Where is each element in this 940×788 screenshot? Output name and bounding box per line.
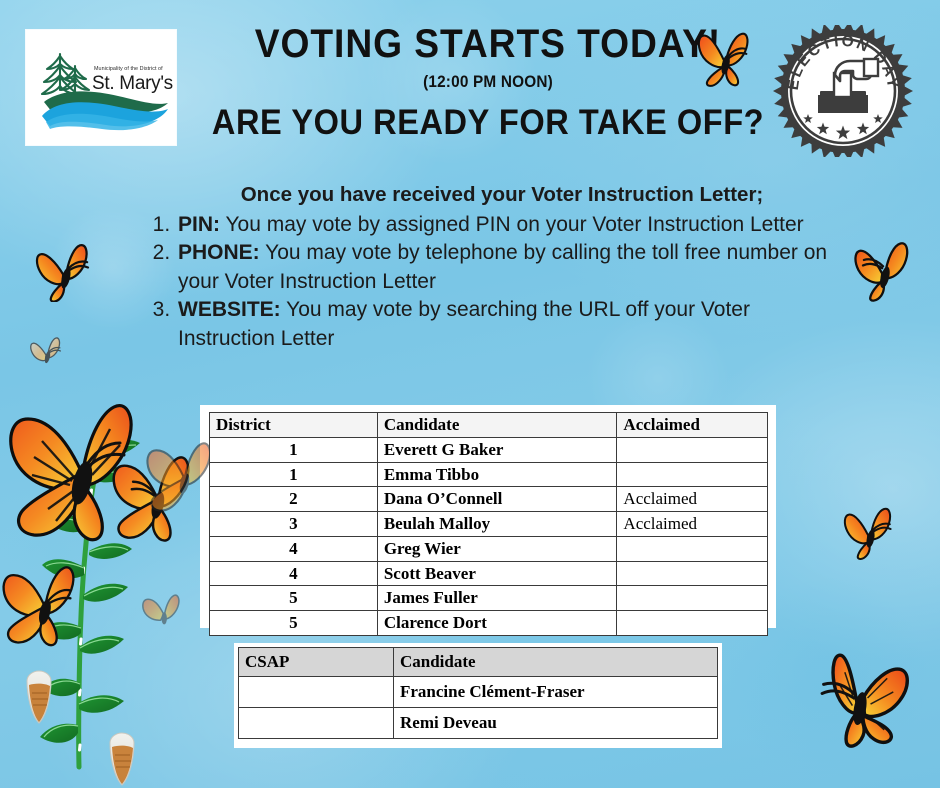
cell-candidate: Francine Clément-Fraser [394,677,718,708]
table-row: 5James Fuller [210,586,768,611]
column-header-csap: CSAP [239,648,394,677]
cell-candidate: Everett G Baker [377,437,617,462]
logo-caption-small: Municipality of the District of [94,66,163,72]
cell-district: 2 [210,487,378,512]
csap-table-header: CSAP Candidate [239,648,718,677]
cell-acclaimed [617,462,768,487]
instruction-lead: PHONE: [178,241,260,264]
csap-candidates-table-frame: CSAP Candidate Francine Clément-FraserRe… [234,643,722,748]
table-row: 4Scott Beaver [210,561,768,586]
instructions-block: Once you have received your Voter Instru… [148,182,848,353]
butterfly-icon [808,645,918,751]
monarch-faded-small [143,595,179,624]
plant-artwork [0,395,209,788]
milkweed-plant-illustration [0,395,209,788]
election-day-badge: ELECTION DAY [772,25,914,157]
csap-table-row: Remi Deveau [239,708,718,739]
election-day-seal-icon: ELECTION DAY [772,25,914,157]
instructions-list: PIN: You may vote by assigned PIN on you… [148,211,848,354]
cell-acclaimed [617,536,768,561]
instruction-lead: PIN: [178,213,220,236]
cell-candidate: Greg Wier [377,536,617,561]
table-row: 2Dana O’ConnellAcclaimed [210,487,768,512]
butterfly-right-lower [808,645,918,751]
column-header-candidate: Candidate [377,413,617,438]
page-title: VOTING STARTS TODAY! [209,24,767,64]
cell-candidate: Beulah Malloy [377,512,617,537]
butterfly-icon [28,335,66,371]
cell-acclaimed [617,611,768,636]
butterfly-icon [850,238,918,302]
cell-candidate: Remi Deveau [394,708,718,739]
cell-candidate: Clarence Dort [377,611,617,636]
municipality-logo: Municipality of the District of St. Mary… [26,30,176,145]
district-candidates-table-frame: District Candidate Acclaimed 1Everett G … [200,405,776,628]
poster-canvas: Municipality of the District of St. Mary… [0,0,940,788]
cell-district: 1 [210,462,378,487]
table-body: 1Everett G Baker1Emma Tibbo2Dana O’Conne… [210,437,768,635]
page-subtitle: (12:00 PM NOON) [209,74,767,91]
csap-table-row: Francine Clément-Fraser [239,677,718,708]
cell-acclaimed [617,561,768,586]
cell-acclaimed [617,586,768,611]
chrysalis-upper [110,733,134,785]
cell-district: 4 [210,536,378,561]
table-row: 1Emma Tibbo [210,462,768,487]
cell-candidate: Dana O’Connell [377,487,617,512]
table-header: District Candidate Acclaimed [210,413,768,438]
butterfly-icon [32,240,98,302]
column-header-acclaimed: Acclaimed [617,413,768,438]
csap-candidates-table: CSAP Candidate Francine Clément-FraserRe… [238,647,718,739]
chrysalis-lower [27,671,51,723]
table-row: 4Greg Wier [210,536,768,561]
district-candidates-table: District Candidate Acclaimed 1Everett G … [209,412,768,636]
cell-district: 5 [210,586,378,611]
instruction-text: You may vote by telephone by calling the… [178,241,827,293]
butterfly-right-upper [850,238,918,302]
cell-csap [239,677,394,708]
cell-district: 5 [210,611,378,636]
cell-acclaimed [617,437,768,462]
cell-district: 3 [210,512,378,537]
cell-acclaimed: Acclaimed [617,487,768,512]
csap-table-header-row: CSAP Candidate [239,648,718,677]
column-header-district: District [210,413,378,438]
cell-candidate: James Fuller [377,586,617,611]
cell-csap [239,708,394,739]
column-header-csap-candidate: Candidate [394,648,718,677]
butterfly-right-mid [840,505,898,561]
monarch-mid [114,457,189,540]
cell-district: 1 [210,437,378,462]
table-row: 5Clarence Dort [210,611,768,636]
butterfly-icon [840,505,898,561]
cell-candidate: Emma Tibbo [377,462,617,487]
butterfly-left-upper [32,240,98,302]
butterfly-left-small [28,335,66,371]
instruction-item-2: PHONE: You may vote by telephone by call… [176,239,848,296]
table-row: 1Everett G Baker [210,437,768,462]
cell-acclaimed: Acclaimed [617,512,768,537]
cell-district: 4 [210,561,378,586]
instructions-intro: Once you have received your Voter Instru… [148,182,848,208]
page-title-secondary: ARE YOU READY FOR TAKE OFF? [209,105,767,140]
table-header-row: District Candidate Acclaimed [210,413,768,438]
table-row: 3Beulah MalloyAcclaimed [210,512,768,537]
monarch-left [4,567,74,645]
instruction-text: You may vote by assigned PIN on your Vot… [220,213,804,236]
instruction-item-3: WEBSITE: You may vote by searching the U… [176,296,848,353]
instruction-item-1: PIN: You may vote by assigned PIN on you… [176,211,848,240]
logo-caption-big: St. Mary's [92,73,173,95]
csap-table-body: Francine Clément-FraserRemi Deveau [239,677,718,739]
instruction-lead: WEBSITE: [178,298,281,321]
monarch-large [11,406,131,540]
cell-candidate: Scott Beaver [377,561,617,586]
